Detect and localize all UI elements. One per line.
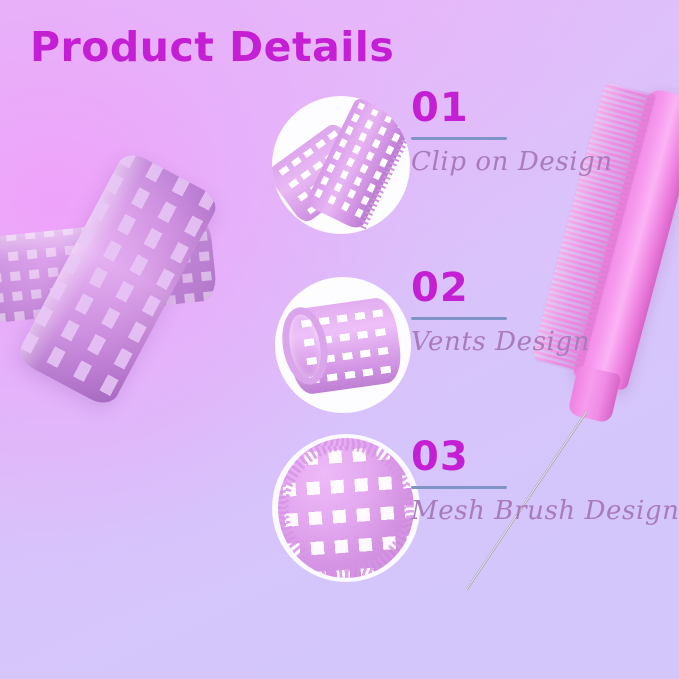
feature-2-label: Vents Design	[411, 326, 590, 359]
callout-3-mesh-surface	[278, 438, 414, 578]
feature-2-number: 02	[411, 268, 590, 308]
comb-handle	[567, 365, 621, 424]
callout-1-image	[272, 96, 410, 234]
callout-circle-2	[275, 277, 411, 413]
page-title: Product Details	[30, 22, 394, 72]
feature-1-number: 01	[411, 88, 613, 128]
feature-2-divider	[411, 317, 507, 320]
feature-1-divider	[411, 137, 507, 140]
feature-3-label: Mesh Brush Design	[411, 495, 679, 528]
mesh-rim-bristles	[278, 438, 414, 578]
callout-3-image	[272, 434, 420, 582]
feature-3-divider	[411, 486, 507, 489]
feature-item-3: 03 Mesh Brush Design	[411, 437, 679, 528]
product-details-banner: Product Details	[0, 0, 679, 679]
callout-circle-3	[272, 434, 420, 582]
callout-2-image	[275, 277, 411, 413]
feature-3-number: 03	[411, 437, 679, 477]
feature-item-1: 01 Clip on Design	[411, 88, 613, 179]
feature-1-label: Clip on Design	[411, 146, 613, 179]
feature-item-2: 02 Vents Design	[411, 268, 590, 359]
callout-circle-1	[272, 96, 410, 234]
